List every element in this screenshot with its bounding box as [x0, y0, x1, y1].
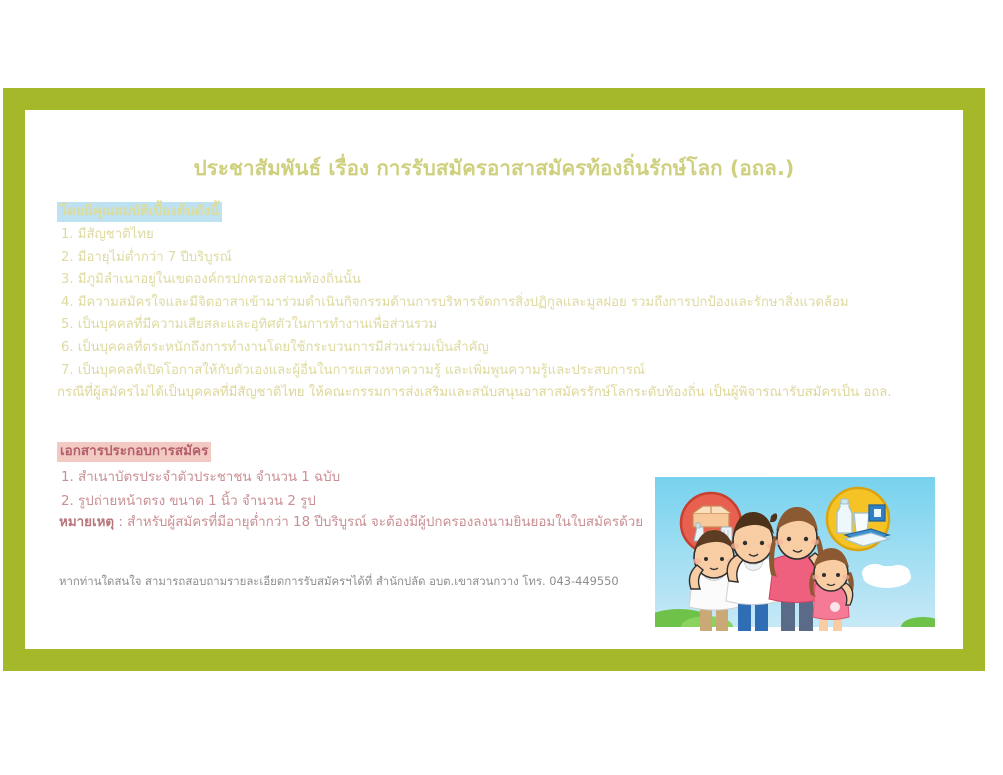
footer-contact-text: หากท่านใดสนใจ สามารถสอบถามรายละเอียดการร… — [59, 572, 619, 590]
documents-list: 1. สำเนาบัตรประจำตัวประชาชน จำนวน 1 ฉบับ… — [61, 466, 681, 513]
remark-label: หมายเหตุ — [59, 515, 114, 530]
list-item: 7. เป็นบุคคลที่เปิดโอกาสให้กับตัวเองและผ… — [61, 360, 941, 383]
list-item: 1. สำเนาบัตรประจำตัวประชาชน จำนวน 1 ฉบับ — [61, 466, 681, 490]
illustration-svg — [655, 477, 935, 635]
qualifications-note: กรณีที่ผู้สมัครไม่ได้เป็นบุคคลที่มีสัญชา… — [57, 383, 892, 403]
poster-white-card: ประชาสัมพันธ์ เรื่อง การรับสมัครอาสาสมัค… — [25, 110, 963, 649]
list-item: 4. มีความสมัครใจและมีจิตอาสาเข้ามาร่วมดำ… — [61, 292, 941, 315]
qualifications-list: 1. มีสัญชาติไทย 2. มีอายุไม่ต่ำกว่า 7 ปี… — [61, 224, 941, 382]
list-item: 3. มีภูมิลำเนาอยู่ในเขตองค์กรปกครองส่วนท… — [61, 269, 941, 292]
family-waste-sorting-illustration — [655, 477, 935, 635]
page-title: ประชาสัมพันธ์ เรื่อง การรับสมัครอาสาสมัค… — [25, 152, 963, 185]
list-item: 2. รูปถ่ายหน้าตรง ขนาด 1 นิ้ว จำนวน 2 รู… — [61, 490, 681, 514]
poster-root: ประชาสัมพันธ์ เรื่อง การรับสมัครอาสาสมัค… — [0, 0, 1003, 775]
cloud-icon — [862, 564, 911, 588]
documents-heading: เอกสารประกอบการสมัคร — [57, 442, 211, 462]
remark-separator: : — [118, 515, 127, 530]
documents-remark: หมายเหตุ : สำหรับผู้สมัครที่มีอายุต่ำกว่… — [59, 513, 643, 533]
qualifications-heading: โดยมีคุณสมบัติเบื้องต้นดังนี้ — [57, 202, 222, 222]
recycling-bubble-icon — [827, 488, 889, 550]
list-item: 5. เป็นบุคคลที่มีความเสียสละและอุทิศตัวใ… — [61, 314, 941, 337]
list-item: 2. มีอายุไม่ต่ำกว่า 7 ปีบริบูรณ์ — [61, 247, 941, 270]
list-item: 6. เป็นบุคคลที่ตระหนักถึงการทำงานโดยใช้ก… — [61, 337, 941, 360]
list-item: 1. มีสัญชาติไทย — [61, 224, 941, 247]
remark-text: สำหรับผู้สมัครที่มีอายุต่ำกว่า 18 ปีบริบ… — [127, 515, 643, 530]
